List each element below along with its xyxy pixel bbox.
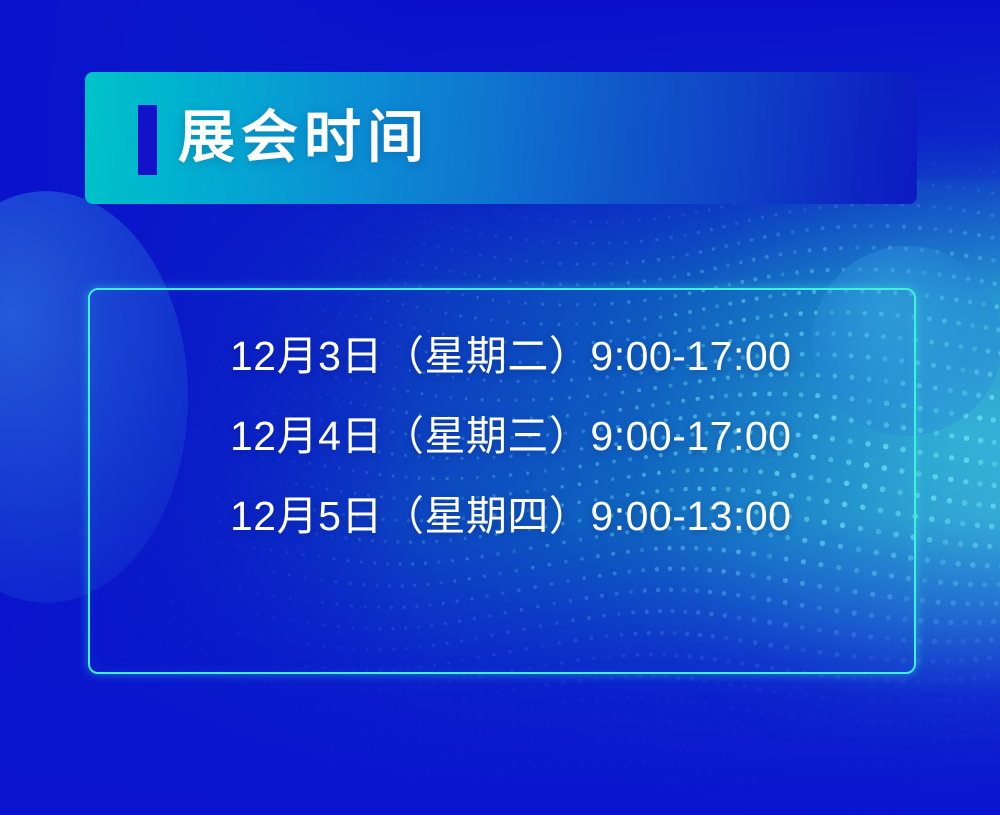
- header-banner: 展会时间: [85, 72, 917, 204]
- schedule-line: 12月4日（星期三）9:00-17:00: [230, 416, 791, 457]
- schedule-line: 12月3日（星期二）9:00-17:00: [230, 336, 791, 377]
- schedule-frame: 12月3日（星期二）9:00-17:00 12月4日（星期三）9:00-17:0…: [88, 288, 916, 674]
- poster-canvas: 展会时间 12月3日（星期二）9:00-17:00 12月4日（星期三）9:00…: [0, 0, 1000, 815]
- header-content: 展会时间: [85, 72, 917, 204]
- schedule-line: 12月5日（星期四）9:00-13:00: [230, 496, 791, 537]
- accent-bar-icon: [138, 105, 157, 175]
- page-title: 展会时间: [178, 110, 430, 167]
- schedule-list: 12月3日（星期二）9:00-17:00 12月4日（星期三）9:00-17:0…: [230, 336, 791, 537]
